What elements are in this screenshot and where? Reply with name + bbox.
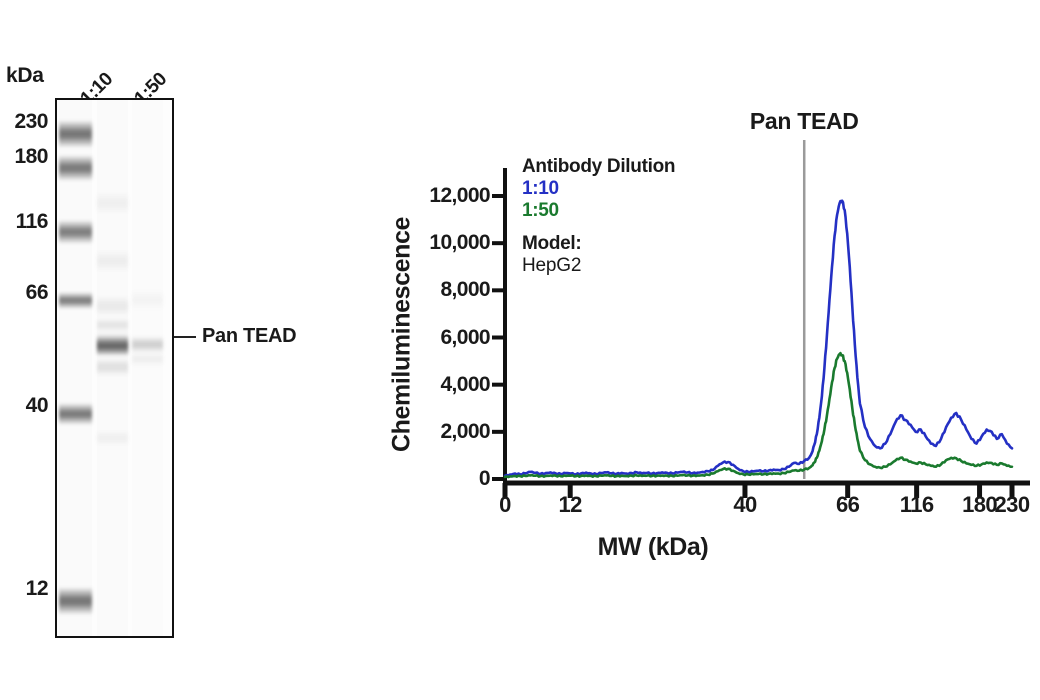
x-tick-0: 0	[499, 494, 511, 516]
x-axis-title-text: MW (kDa)	[598, 533, 709, 561]
ladder-label-12: 12	[26, 578, 48, 599]
x-tick-116: 116	[900, 494, 934, 516]
lane-ladder	[59, 100, 92, 636]
legend-entry-1-50: 1:50	[522, 200, 675, 222]
chart-legend: Antibody Dilution 1:101:50 Model: HepG2	[522, 156, 675, 277]
pan-tead-pointer-line	[174, 336, 196, 338]
lane-1-50-band-0	[132, 290, 163, 310]
legend-title: Antibody Dilution	[522, 156, 675, 178]
x-axis-tick-labels: 0124066116180230	[330, 0, 1040, 700]
ladder-band-4	[59, 403, 92, 425]
pan-tead-blot-label: Pan TEAD	[202, 325, 296, 348]
ladder-band-2	[59, 220, 92, 244]
lane-1-10-band-5	[97, 336, 128, 356]
western-blot-panel: kDa 1:10 1:50 230180116664012 Pan TEAD	[0, 0, 330, 700]
lane-1-10-band-2	[97, 296, 128, 316]
legend-model-title: Model:	[522, 233, 675, 255]
blot-image	[55, 98, 174, 638]
ladder-band-3	[59, 292, 92, 309]
ladder-label-66: 66	[26, 282, 48, 303]
x-tick-66: 66	[836, 494, 859, 516]
x-tick-230: 230	[995, 494, 1030, 516]
x-tick-40: 40	[733, 494, 756, 516]
lane-dilution-1-50	[132, 100, 163, 636]
densitometry-chart-panel: Chemiluminescence 02,0004,0006,0008,0001…	[330, 0, 1040, 700]
ladder-band-0	[59, 120, 92, 148]
peak-annotation-pan-tead: Pan TEAD	[750, 108, 859, 135]
lane-1-50-band-1	[132, 336, 163, 353]
ladder-marker-labels: 230180116664012	[0, 0, 52, 700]
lane-1-10-band-7	[97, 430, 128, 446]
legend-entry-1-10: 1:10	[522, 178, 675, 200]
x-tick-180: 180	[962, 494, 997, 516]
lane-1-50-band-2	[132, 352, 163, 366]
lane-dilution-1-10	[97, 100, 128, 636]
x-axis-title: MW (kDa)	[330, 533, 1040, 562]
ladder-label-180: 180	[14, 146, 48, 167]
legend-entries: 1:101:50	[522, 178, 675, 222]
ladder-label-40: 40	[26, 395, 48, 416]
ladder-band-5	[59, 587, 92, 615]
lane-1-10-band-6	[97, 358, 128, 376]
figure-root: kDa 1:10 1:50 230180116664012 Pan TEAD C…	[0, 0, 1040, 700]
x-tick-12: 12	[559, 494, 582, 516]
legend-model-value: HepG2	[522, 255, 675, 277]
lane-1-10-band-3	[97, 318, 128, 332]
ladder-band-1	[59, 155, 92, 181]
ladder-label-116: 116	[16, 211, 48, 232]
lane-1-10-band-0	[97, 192, 128, 214]
ladder-label-230: 230	[14, 111, 48, 132]
lane-1-10-band-1	[97, 250, 128, 272]
